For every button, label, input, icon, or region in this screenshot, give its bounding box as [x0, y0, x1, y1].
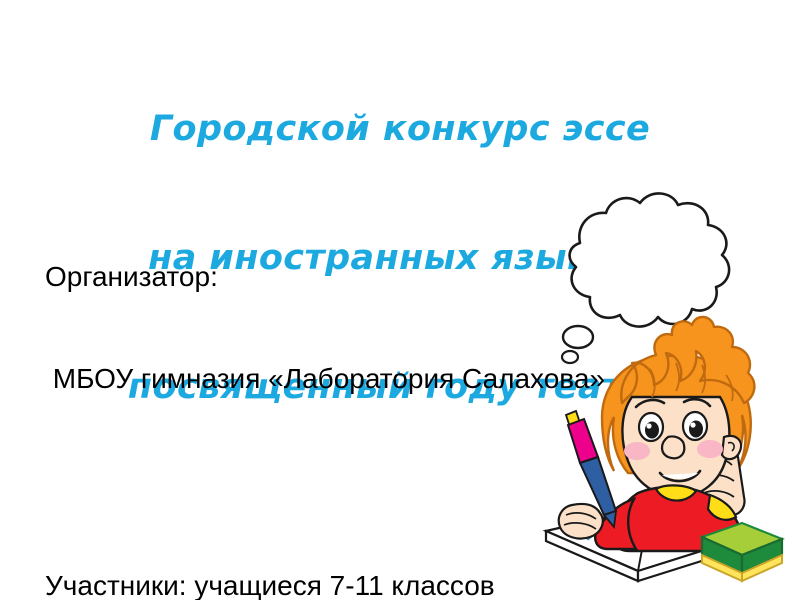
slide-canvas: Городской конкурс эссе на иностранных яз…: [0, 0, 800, 600]
spacer-line-1: [45, 464, 665, 501]
organizer-label: Организатор:: [45, 260, 665, 294]
participants-line: Участники: учащиеся 7-11 классов: [45, 569, 665, 600]
boy-cuff: [708, 495, 736, 520]
green-eraser-icon: [702, 523, 782, 581]
body-text-block: Организатор: МБОУ гимназия «Лаборатория …: [45, 192, 665, 600]
organizer-name: МБОУ гимназия «Лаборатория Салахова»: [45, 362, 665, 396]
title-line-1: Городской конкурс эссе: [0, 108, 800, 151]
